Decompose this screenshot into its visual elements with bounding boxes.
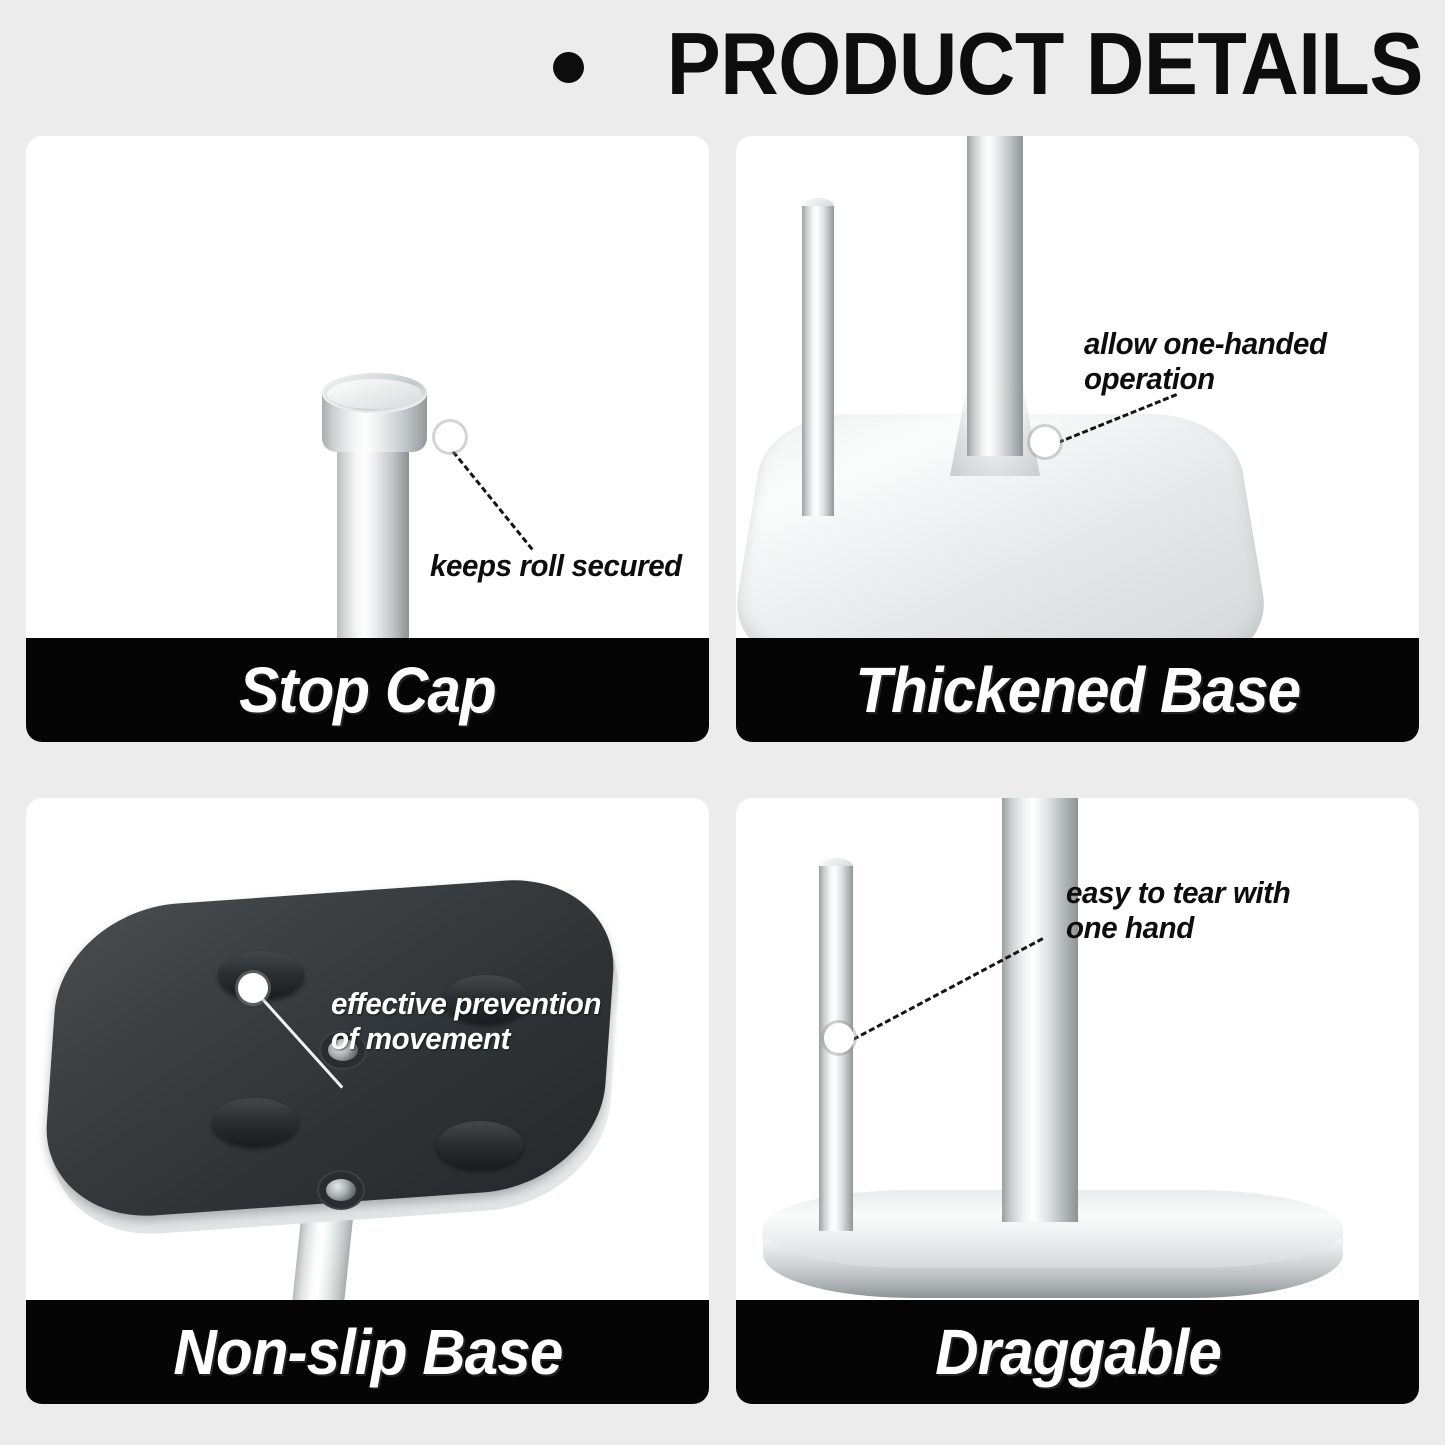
callout-marker-draggable xyxy=(824,1023,854,1053)
product-details-grid: keeps roll secured Stop Cap allow one-ha… xyxy=(26,136,1419,1404)
label-bar-thickened-base: Thickened Base xyxy=(736,638,1419,742)
draggable-image: easy to tear with one hand xyxy=(736,798,1419,1300)
main-post-shape xyxy=(1002,798,1078,1222)
panel-non-slip-base[interactable]: effective prevention of movement Non-sli… xyxy=(26,798,709,1404)
non-slip-base-image: effective prevention of movement xyxy=(26,798,709,1300)
callout-text-thickened-base: allow one-handed operation xyxy=(1084,326,1327,396)
label-bar-stop-cap: Stop Cap xyxy=(26,638,709,742)
page-title: PRODUCT DETAILS xyxy=(667,20,1423,108)
panel-draggable[interactable]: easy to tear with one hand Draggable xyxy=(736,798,1419,1404)
rubber-foot-shape xyxy=(437,1121,523,1169)
screw-head-shape xyxy=(326,1179,356,1201)
label-bar-draggable: Draggable xyxy=(736,1300,1419,1404)
callout-text-stop-cap: keeps roll secured xyxy=(430,548,682,583)
panel-thickened-base[interactable]: allow one-handed operation Thickened Bas… xyxy=(736,136,1419,742)
bullet-dot-icon xyxy=(553,52,584,83)
main-post-shape xyxy=(967,136,1023,456)
side-rod-shape xyxy=(802,206,834,516)
label-text-stop-cap: Stop Cap xyxy=(239,658,496,722)
label-text-thickened-base: Thickened Base xyxy=(855,658,1300,722)
page-header: PRODUCT DETAILS xyxy=(0,0,1445,128)
callout-leader-stop-cap xyxy=(452,451,534,551)
stop-cap-image: keeps roll secured xyxy=(26,136,709,638)
callout-text-draggable: easy to tear with one hand xyxy=(1066,875,1290,945)
panel-stop-cap[interactable]: keeps roll secured Stop Cap xyxy=(26,136,709,742)
callout-marker-stop-cap xyxy=(435,422,465,452)
rubber-foot-shape xyxy=(212,1098,298,1146)
callout-text-non-slip-base: effective prevention of movement xyxy=(331,986,601,1056)
stop-cap-rim-shape xyxy=(327,379,422,409)
callout-marker-thickened-base xyxy=(1030,427,1060,457)
thickened-base-image: allow one-handed operation xyxy=(736,136,1419,638)
label-text-draggable: Draggable xyxy=(935,1320,1221,1384)
label-bar-non-slip-base: Non-slip Base xyxy=(26,1300,709,1404)
callout-marker-non-slip-base xyxy=(238,973,268,1003)
label-text-non-slip-base: Non-slip Base xyxy=(173,1320,562,1384)
